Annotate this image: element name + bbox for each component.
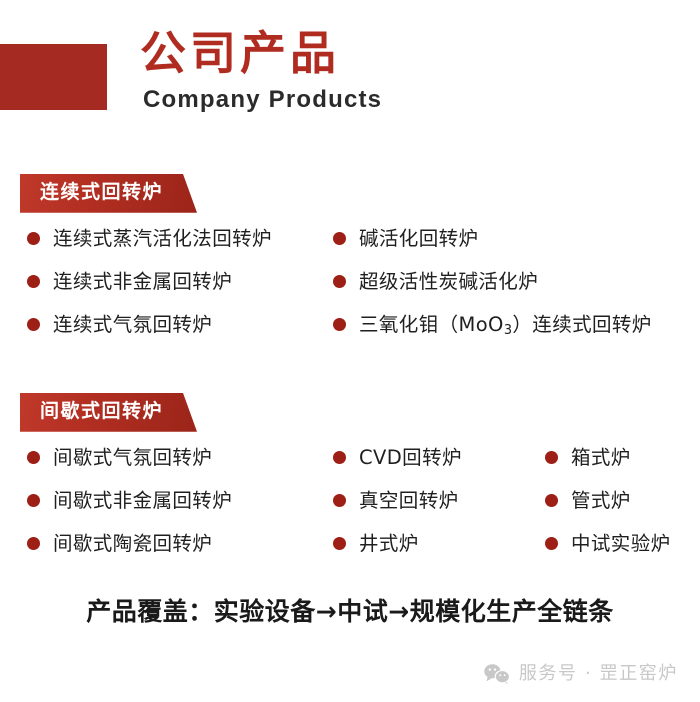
bullet-dot-icon xyxy=(333,275,346,288)
label-subscript: 3 xyxy=(504,323,513,338)
section-banner-continuous: 连续式回转炉 xyxy=(20,174,197,213)
list-item-label: CVD回转炉 xyxy=(359,446,462,469)
list-item[interactable]: 连续式非金属回转炉 xyxy=(27,270,232,293)
list-item-label: 连续式非金属回转炉 xyxy=(53,270,232,293)
product-list-batch: 间歇式气氛回转炉 CVD回转炉 箱式炉 间歇式非金属回转炉 真空回转炉 xyxy=(0,446,700,575)
list-row: 间歇式非金属回转炉 真空回转炉 管式炉 xyxy=(0,489,700,532)
label-part-pre: 三氧化钼（MoO xyxy=(359,313,504,336)
list-item-label: 间歇式非金属回转炉 xyxy=(53,489,232,512)
bullet-dot-icon xyxy=(333,451,346,464)
bullet-dot-icon xyxy=(27,537,40,550)
list-item-label: 间歇式陶瓷回转炉 xyxy=(53,532,212,555)
page-header: 公司产品 Company Products xyxy=(0,0,700,150)
list-item-label: 井式炉 xyxy=(359,532,419,555)
list-item-label: 超级活性炭碱活化炉 xyxy=(359,270,538,293)
list-item[interactable]: CVD回转炉 xyxy=(333,446,462,469)
list-item[interactable]: 中试实验炉 xyxy=(545,532,671,555)
coverage-tagline: 产品覆盖：实验设备→中试→规模化生产全链条 xyxy=(0,596,700,627)
section-batch-rotary-furnace: 间歇式回转炉 间歇式气氛回转炉 CVD回转炉 箱式炉 间歇式非金属回转炉 xyxy=(0,393,700,575)
list-item[interactable]: 三氧化钼（MoO3）连续式回转炉 xyxy=(333,313,652,336)
list-item-label: 管式炉 xyxy=(571,489,631,512)
list-row: 连续式非金属回转炉 超级活性炭碱活化炉 xyxy=(0,270,700,313)
bullet-dot-icon xyxy=(545,537,558,550)
bullet-dot-icon xyxy=(27,451,40,464)
list-item-label-molybdenum: 三氧化钼（MoO3）连续式回转炉 xyxy=(359,313,652,336)
bullet-dot-icon xyxy=(333,232,346,245)
bullet-dot-icon xyxy=(333,494,346,507)
bullet-dot-icon xyxy=(27,318,40,331)
list-item[interactable]: 超级活性炭碱活化炉 xyxy=(333,270,538,293)
list-item[interactable]: 箱式炉 xyxy=(545,446,631,469)
bullet-dot-icon xyxy=(27,275,40,288)
list-row: 间歇式气氛回转炉 CVD回转炉 箱式炉 xyxy=(0,446,700,489)
list-item[interactable]: 真空回转炉 xyxy=(333,489,459,512)
list-item-label: 间歇式气氛回转炉 xyxy=(53,446,212,469)
bullet-dot-icon xyxy=(545,451,558,464)
bullet-dot-icon xyxy=(333,537,346,550)
list-item[interactable]: 井式炉 xyxy=(333,532,419,555)
bullet-dot-icon xyxy=(545,494,558,507)
list-item-label: 碱活化回转炉 xyxy=(359,227,478,250)
page-subtitle: Company Products xyxy=(143,86,680,115)
header-title-group: 公司产品 Company Products xyxy=(140,26,680,115)
section-continuous-rotary-furnace: 连续式回转炉 连续式蒸汽活化法回转炉 碱活化回转炉 连续式非金属回转炉 超级活性… xyxy=(0,174,700,356)
list-item[interactable]: 间歇式非金属回转炉 xyxy=(27,489,232,512)
list-item-label: 连续式蒸汽活化法回转炉 xyxy=(53,227,272,250)
product-list-continuous: 连续式蒸汽活化法回转炉 碱活化回转炉 连续式非金属回转炉 超级活性炭碱活化炉 连… xyxy=(0,227,700,356)
list-row: 连续式蒸汽活化法回转炉 碱活化回转炉 xyxy=(0,227,700,270)
list-item[interactable]: 间歇式气氛回转炉 xyxy=(27,446,212,469)
section-banner-batch: 间歇式回转炉 xyxy=(20,393,197,432)
bullet-dot-icon xyxy=(27,494,40,507)
bullet-dot-icon xyxy=(333,318,346,331)
list-item[interactable]: 连续式蒸汽活化法回转炉 xyxy=(27,227,272,250)
list-row: 连续式气氛回转炉 三氧化钼（MoO3）连续式回转炉 xyxy=(0,313,700,356)
footer-account-name: 服务号 · 罡正窑炉 xyxy=(519,663,678,685)
list-item[interactable]: 碱活化回转炉 xyxy=(333,227,478,250)
list-item[interactable]: 连续式气氛回转炉 xyxy=(27,313,212,336)
list-item[interactable]: 间歇式陶瓷回转炉 xyxy=(27,532,212,555)
label-part-post: ）连续式回转炉 xyxy=(512,313,651,336)
list-item-label: 连续式气氛回转炉 xyxy=(53,313,212,336)
list-row: 间歇式陶瓷回转炉 井式炉 中试实验炉 xyxy=(0,532,700,575)
list-item-label: 中试实验炉 xyxy=(571,532,671,555)
list-item-label: 箱式炉 xyxy=(571,446,631,469)
red-rectangle-block-icon xyxy=(0,44,107,110)
page-title: 公司产品 xyxy=(140,26,680,80)
list-item[interactable]: 管式炉 xyxy=(545,489,631,512)
list-item-label: 真空回转炉 xyxy=(359,489,459,512)
wechat-icon xyxy=(484,663,510,685)
footer-account: 服务号 · 罡正窑炉 xyxy=(484,663,678,685)
bullet-dot-icon xyxy=(27,232,40,245)
